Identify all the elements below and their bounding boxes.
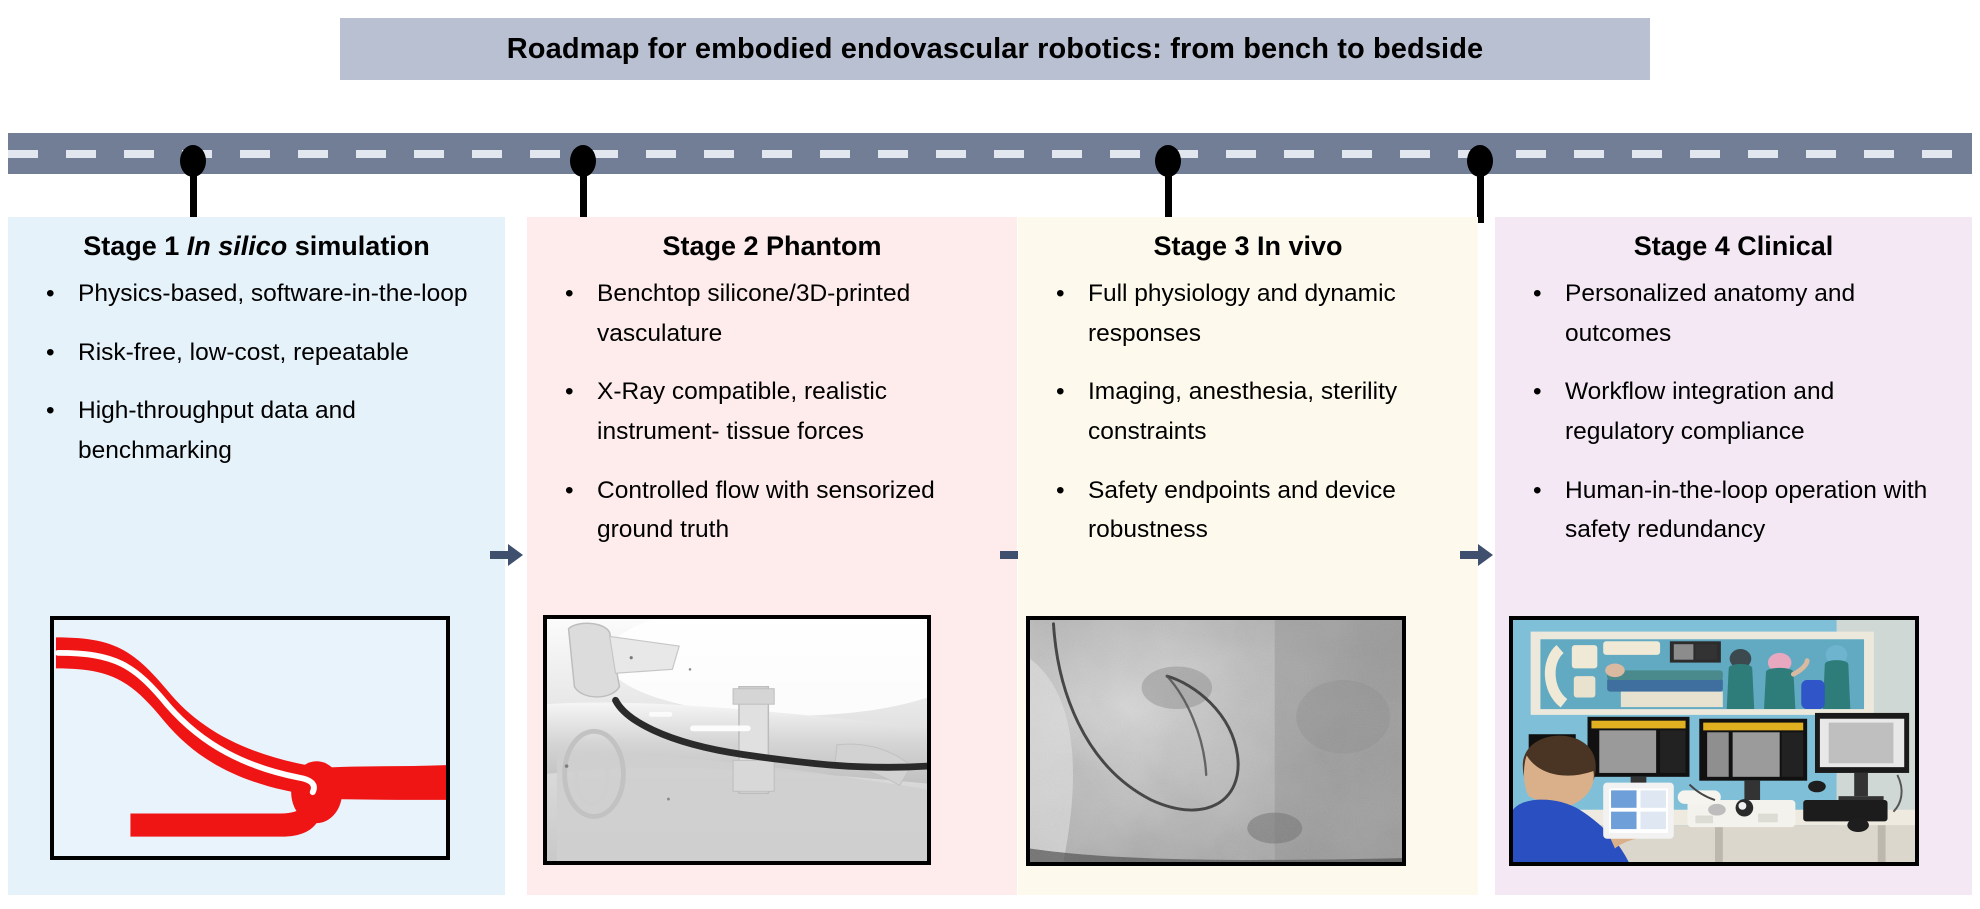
bullet-dot-icon: • [46,391,55,431]
bullet-text: Full physiology and dynamic responses [1088,280,1396,347]
timeline-marker-stage-3 [1155,145,1181,223]
connector-arrow-stage-1-to-2 [490,540,524,570]
in-silico-vessel-simulation-graphic [54,620,446,856]
stage-4-bullet-list: •Personalized anatomy and outcomes •Work… [1495,274,1972,550]
list-item: •Physics-based, software-in-the-loop [42,274,479,314]
bullet-dot-icon: • [1056,372,1065,412]
bullet-dot-icon: • [1056,274,1065,314]
page-title: Roadmap for embodied endovascular roboti… [507,33,1484,66]
silicone-phantom-photo-graphic [547,619,927,861]
timeline-marker-stage-2 [570,145,596,223]
stage-2-title: Stage 2 Phantom [527,217,1017,266]
list-item: •Human-in-the-loop operation with safety… [1529,471,1946,550]
timeline-marker-stage-1 [180,145,206,223]
arrow-right-icon [490,540,524,570]
bullet-text: Physics-based, software-in-the-loop [78,280,467,307]
stage-3-title-prefix: Stage 3 In vivo [1153,231,1342,261]
stage-4-title-prefix: Stage 4 Clinical [1634,231,1834,261]
stage-1-title-prefix: Stage 1 [83,231,187,261]
stage-3-title: Stage 3 In vivo [1018,217,1478,266]
list-item: •Imaging, anesthesia, sterility constrai… [1052,372,1452,451]
bullet-text: Risk-free, low-cost, repeatable [78,339,409,366]
stage-4-title: Stage 4 Clinical [1495,217,1972,266]
clinical-cath-lab-graphic [1513,620,1915,862]
connector-arrow-stage-3-to-4 [1460,540,1494,570]
stage-1-title-suffix: simulation [287,231,430,261]
pin-stem-icon [190,173,197,223]
pin-stem-icon [580,173,587,223]
stage-3-figure-in-vivo-fluoroscopy-image [1026,616,1406,866]
list-item: •High-throughput data and benchmarking [42,391,479,470]
bullet-text: High-throughput data and benchmarking [78,397,356,464]
list-item: •Risk-free, low-cost, repeatable [42,333,479,373]
list-item: •Workflow integration and regulatory com… [1529,372,1946,451]
pin-stem-icon [1165,173,1172,223]
bullet-text: Safety endpoints and device robustness [1088,477,1396,544]
stage-2-bullet-list: •Benchtop silicone/3D-printed vasculatur… [527,274,1017,550]
list-item: •Safety endpoints and device robustness [1052,471,1452,550]
road-center-dashes [8,150,1972,158]
bullet-text: Personalized anatomy and outcomes [1565,280,1855,347]
stage-4-figure-clinical-cath-lab-photo [1509,616,1919,866]
stage-1-title: Stage 1 In silico simulation [8,217,505,266]
bullet-dot-icon: • [565,274,574,314]
bullet-text: Benchtop silicone/3D-printed vasculature [597,280,910,347]
bullet-text: Imaging, anesthesia, sterility constrain… [1088,378,1397,445]
bullet-dot-icon: • [1533,471,1542,511]
bullet-text: Human-in-the-loop operation with safety … [1565,477,1927,544]
stage-2-title-prefix: Stage 2 Phantom [662,231,881,261]
bullet-text: X-Ray compatible, realistic instrument- … [597,378,887,445]
stage-1-title-italic: In silico [187,231,288,261]
stage-1-bullet-list: •Physics-based, software-in-the-loop •Ri… [8,274,505,471]
stage-1-figure-in-silico-vessel-simulation [50,616,450,860]
list-item: •Controlled flow with sensorized ground … [561,471,991,550]
list-item: •Personalized anatomy and outcomes [1529,274,1946,353]
pin-stem-icon [1477,173,1484,223]
bullet-dot-icon: • [565,372,574,412]
list-item: •Full physiology and dynamic responses [1052,274,1452,353]
bullet-text: Controlled flow with sensorized ground t… [597,477,935,544]
bullet-dot-icon: • [46,333,55,373]
list-item: •X-Ray compatible, realistic instrument-… [561,372,991,451]
stage-3-bullet-list: •Full physiology and dynamic responses •… [1018,274,1478,550]
roadmap-title-banner: Roadmap for embodied endovascular roboti… [340,18,1650,80]
bullet-dot-icon: • [46,274,55,314]
bullet-dot-icon: • [565,471,574,511]
in-vivo-fluoroscopy-graphic [1030,620,1402,862]
list-item: •Benchtop silicone/3D-printed vasculatur… [561,274,991,353]
bullet-dot-icon: • [1056,471,1065,511]
arrow-right-icon [1460,540,1494,570]
roadmap-timeline-road [8,133,1972,174]
bullet-dot-icon: • [1533,372,1542,412]
bullet-text: Workflow integration and regulatory comp… [1565,378,1834,445]
stage-2-figure-silicone-phantom-photo [543,615,931,865]
timeline-marker-stage-4 [1467,145,1493,223]
bullet-dot-icon: • [1533,274,1542,314]
